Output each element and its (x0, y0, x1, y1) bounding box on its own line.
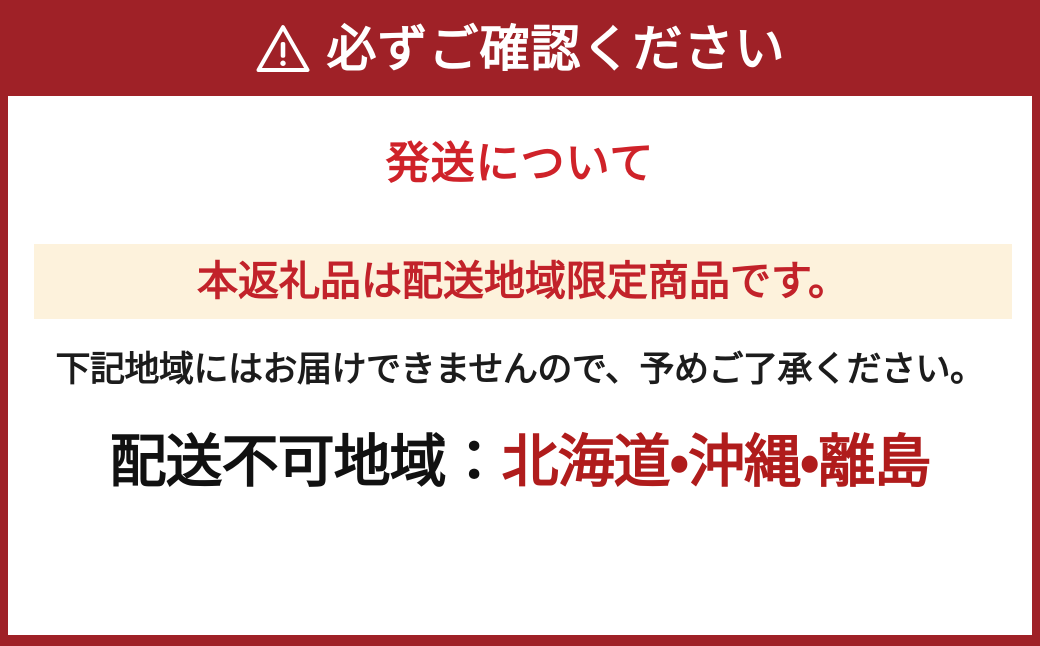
warning-triangle-icon (255, 21, 311, 77)
banner-body: 発送について 本返礼品は配送地域限定商品です。 下記地域にはお届けできませんので… (0, 96, 1040, 635)
section-heading-shipping: 発送について (0, 142, 1040, 186)
notice-text: 下記地域にはお届けできませんので、予めご了承ください。 (0, 352, 1040, 387)
restricted-region-label: 配送不可地域： (110, 430, 502, 494)
banner-header: 必ずご確認ください (0, 0, 1040, 96)
shipping-notice-banner: 必ずご確認ください 発送について 本返礼品は配送地域限定商品です。 下記地域には… (0, 0, 1040, 646)
banner-header-title: 必ずご確認ください (327, 24, 786, 74)
highlight-band: 本返礼品は配送地域限定商品です。 (34, 244, 1012, 319)
restricted-region-line: 配送不可地域：北海道・沖縄・離島 (0, 434, 1040, 491)
restricted-region-value: 北海道・沖縄・離島 (502, 430, 931, 494)
highlight-band-text: 本返礼品は配送地域限定商品です。 (197, 261, 849, 302)
